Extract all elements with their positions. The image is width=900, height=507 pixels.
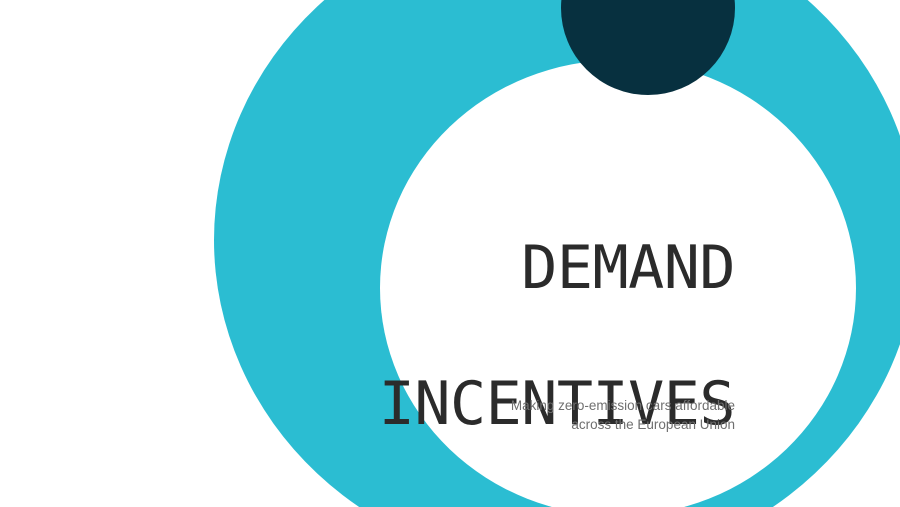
cyan-ring-shape [0, 0, 900, 507]
cover-slide: DEMAND INCENTIVES MATTER Making zero-emi… [0, 0, 900, 507]
cover-artwork [0, 0, 900, 507]
